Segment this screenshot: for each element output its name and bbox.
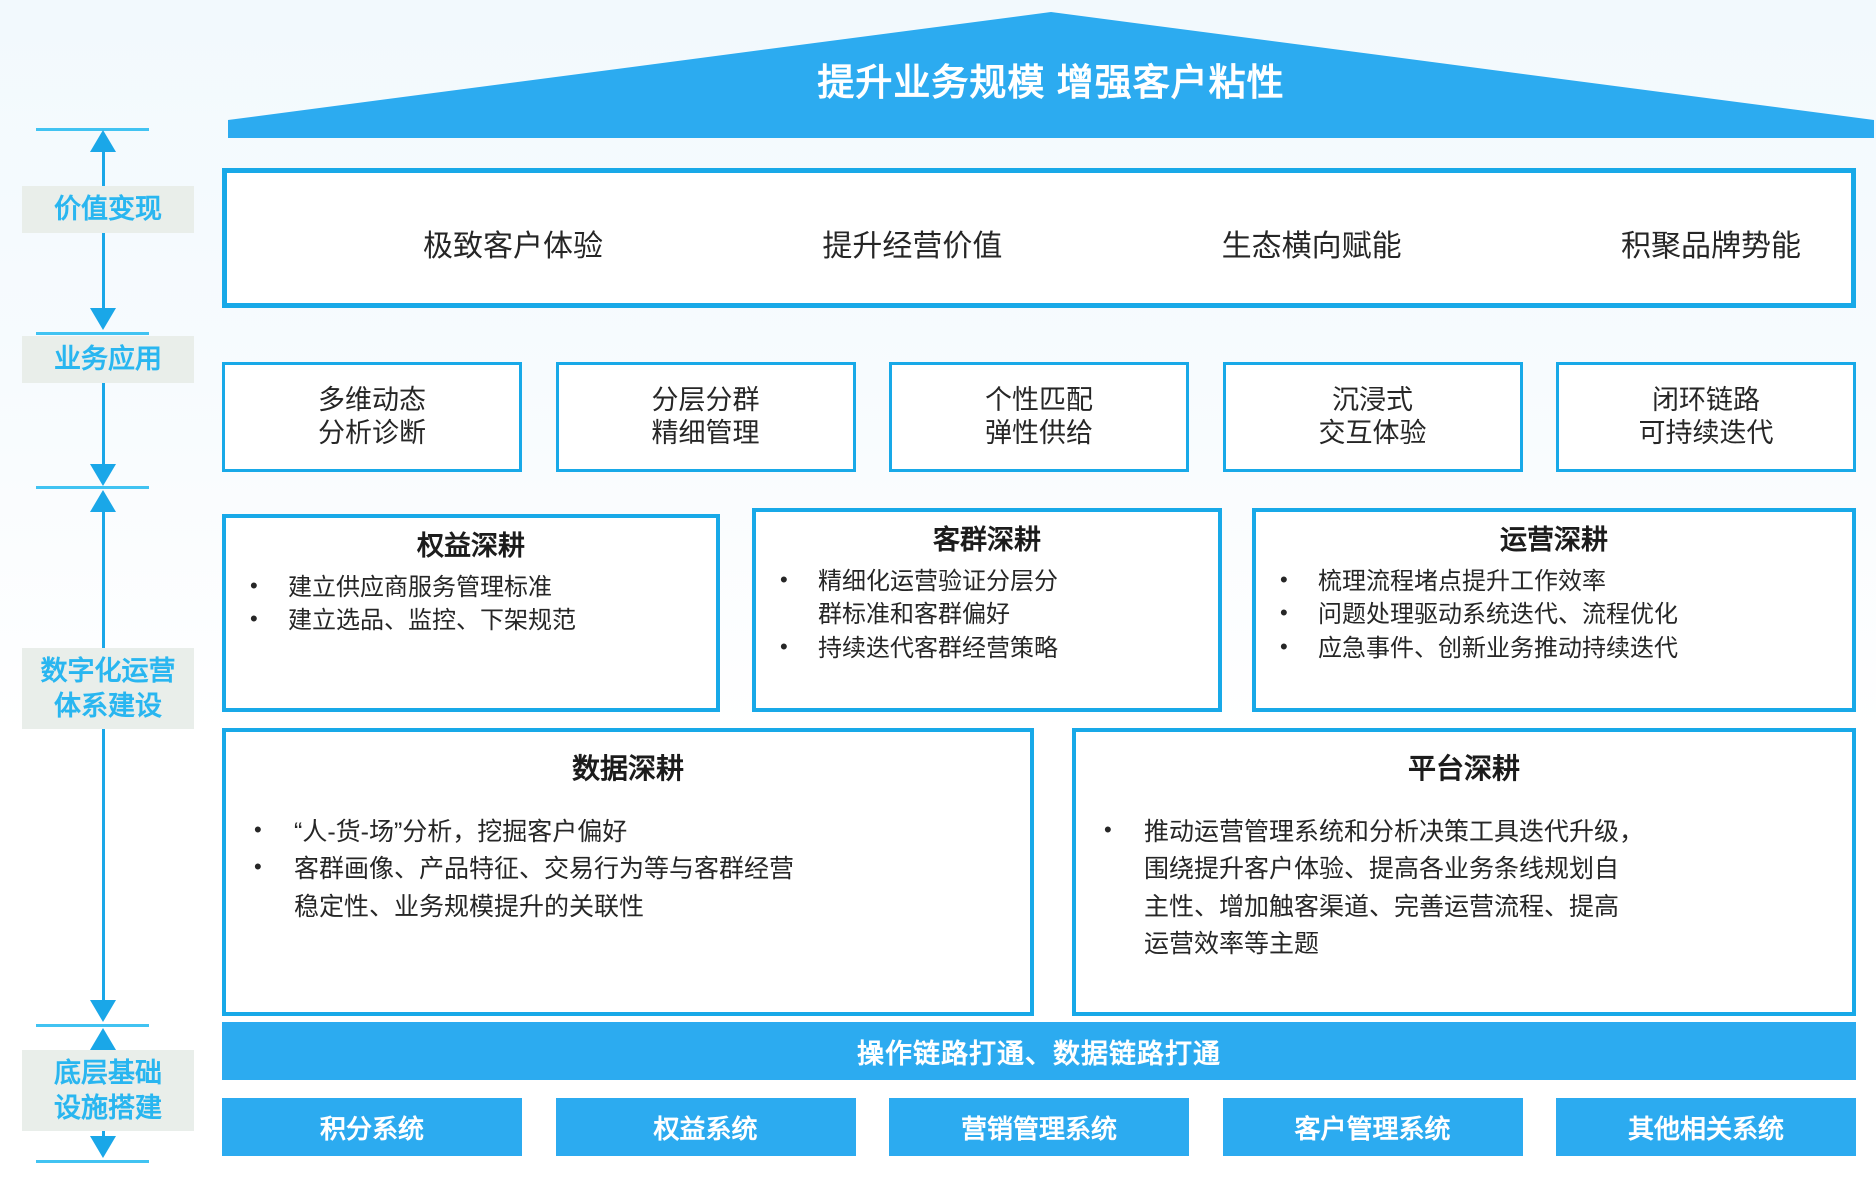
system-box-jifen[interactable]: 积分系统: [222, 1098, 522, 1156]
digital-box-shuju-title: 数据深耕: [226, 754, 1030, 785]
rail-label-infra: 底层基础 设施搭建: [22, 1050, 194, 1131]
value-item-2: 生态横向赋能: [1222, 221, 1402, 265]
rail-label-digital-line1: 数字化运营: [22, 654, 194, 689]
list-item: 精细化运营验证分层分: [756, 566, 1218, 598]
system-box-kehu[interactable]: 客户管理系统: [1223, 1098, 1523, 1156]
rail-arrow-down-3: [90, 1000, 116, 1022]
list-item: 推动运营管理系统和分析决策工具迭代升级，: [1076, 815, 1852, 851]
diagram-stage: 提升业务规模 增强客户粘性 价值变现 业务应用 数字化运营 体系建设: [0, 0, 1876, 1186]
rail-divider-3: [36, 486, 149, 489]
digital-box-shuju[interactable]: 数据深耕 “人-货-场”分析，挖掘客户偏好 客群画像、产品特征、交易行为等与客群…: [222, 728, 1034, 1016]
system-box-qita[interactable]: 其他相关系统: [1556, 1098, 1856, 1156]
list-item-continuation: 主性、增加触客渠道、完善运营流程、提高: [1076, 890, 1852, 926]
list-item: 应急事件、创新业务推动持续迭代: [1256, 633, 1852, 665]
list-item: 持续迭代客群经营策略: [756, 633, 1218, 665]
application-box-2-line1: 个性匹配: [985, 384, 1093, 417]
list-item: 问题处理驱动系统迭代、流程优化: [1256, 599, 1852, 631]
digital-box-shuju-bullets: “人-货-场”分析，挖掘客户偏好 客群画像、产品特征、交易行为等与客群经营 稳定…: [226, 815, 1030, 926]
rail-divider-5: [36, 1160, 149, 1163]
infra-systems-row: 积分系统 权益系统 营销管理系统 客户管理系统 其他相关系统: [222, 1098, 1856, 1156]
value-item-3: 积聚品牌势能: [1621, 221, 1801, 265]
rail-label-value: 价值变现: [22, 186, 194, 233]
rail-arrow-up-4: [90, 1028, 116, 1050]
application-box-1-line1: 分层分群: [652, 384, 760, 417]
application-box-4-line1: 闭环链路: [1652, 384, 1760, 417]
digital-box-kequn-bullets: 精细化运营验证分层分 群标准和客群偏好 持续迭代客群经营策略: [756, 566, 1218, 665]
rail-label-application: 业务应用: [22, 336, 194, 383]
digital-box-quanyi-title: 权益深耕: [226, 532, 716, 562]
list-item: 建立供应商服务管理标准: [226, 572, 716, 604]
infra-band: 操作链路打通、数据链路打通: [222, 1022, 1856, 1080]
rail-label-infra-line1: 底层基础: [22, 1056, 194, 1091]
application-box-3[interactable]: 沉浸式 交互体验: [1223, 362, 1523, 472]
application-box-2[interactable]: 个性匹配 弹性供给: [889, 362, 1189, 472]
rail-label-digital: 数字化运营 体系建设: [22, 648, 194, 729]
application-box-0[interactable]: 多维动态 分析诊断: [222, 362, 522, 472]
rail-arrow-down-4: [90, 1136, 116, 1158]
application-box-1[interactable]: 分层分群 精细管理: [556, 362, 856, 472]
application-box-3-line2: 交互体验: [1319, 417, 1427, 450]
roof-banner: 提升业务规模 增强客户粘性: [228, 8, 1874, 138]
application-box-2-line2: 弹性供给: [985, 417, 1093, 450]
rail-label-digital-line2: 体系建设: [22, 689, 194, 724]
rail-arrow-up-1: [90, 130, 116, 152]
value-layer-items: 极致客户体验 提升经营价值 生态横向赋能 积聚品牌势能: [423, 173, 1861, 313]
digital-box-yunying-bullets: 梳理流程堵点提升工作效率 问题处理驱动系统迭代、流程优化 应急事件、创新业务推动…: [1256, 566, 1852, 665]
application-box-3-line1: 沉浸式: [1332, 384, 1413, 417]
digital-box-yunying-title: 运营深耕: [1256, 526, 1852, 556]
list-item-continuation: 群标准和客群偏好: [756, 599, 1218, 631]
system-box-yingxiao[interactable]: 营销管理系统: [889, 1098, 1189, 1156]
list-item: “人-货-场”分析，挖掘客户偏好: [226, 815, 1030, 851]
rail-divider-4: [36, 1024, 149, 1027]
rail-divider-2: [36, 332, 149, 335]
list-item: 客群画像、产品特征、交易行为等与客群经营: [226, 852, 1030, 888]
value-item-0: 极致客户体验: [423, 221, 603, 265]
left-rail: 价值变现 业务应用 数字化运营 体系建设 底层基础 设施搭建: [18, 128, 168, 1168]
rail-stem-3: [102, 510, 105, 1002]
digital-box-pingtai[interactable]: 平台深耕 推动运营管理系统和分析决策工具迭代升级， 围绕提升客户体验、提高各业务…: [1072, 728, 1856, 1016]
list-item-continuation: 稳定性、业务规模提升的关联性: [226, 890, 1030, 926]
application-box-0-line2: 分析诊断: [318, 417, 426, 450]
application-layer-row: 多维动态 分析诊断 分层分群 精细管理 个性匹配 弹性供给 沉浸式 交互体验 闭…: [222, 362, 1856, 472]
digital-box-kequn-title: 客群深耕: [756, 526, 1218, 556]
rail-label-value-text: 价值变现: [22, 192, 194, 227]
value-item-1: 提升经营价值: [822, 221, 1002, 265]
digital-box-yunying[interactable]: 运营深耕 梳理流程堵点提升工作效率 问题处理驱动系统迭代、流程优化 应急事件、创…: [1252, 508, 1856, 712]
system-box-quanyi[interactable]: 权益系统: [556, 1098, 856, 1156]
digital-box-pingtai-bullets: 推动运营管理系统和分析决策工具迭代升级， 围绕提升客户体验、提高各业务条线规划自…: [1076, 815, 1852, 963]
application-box-0-line1: 多维动态: [318, 384, 426, 417]
digital-layer-row2: 数据深耕 “人-货-场”分析，挖掘客户偏好 客群画像、产品特征、交易行为等与客群…: [222, 728, 1856, 1018]
rail-label-application-text: 业务应用: [22, 342, 194, 377]
digital-box-pingtai-title: 平台深耕: [1076, 754, 1852, 785]
list-item-continuation: 围绕提升客户体验、提高各业务条线规划自: [1076, 852, 1852, 888]
rail-arrow-up-3: [90, 490, 116, 512]
list-item: 建立选品、监控、下架规范: [226, 605, 716, 637]
digital-box-quanyi[interactable]: 权益深耕 建立供应商服务管理标准 建立选品、监控、下架规范: [222, 514, 720, 712]
application-box-1-line2: 精细管理: [652, 417, 760, 450]
value-layer-box: 极致客户体验 提升经营价值 生态横向赋能 积聚品牌势能: [222, 168, 1856, 308]
digital-layer-row1: 权益深耕 建立供应商服务管理标准 建立选品、监控、下架规范 客群深耕 精细化运营…: [222, 514, 1856, 712]
application-box-4-line2: 可持续迭代: [1639, 417, 1774, 450]
rail-arrow-down-1: [90, 308, 116, 330]
rail-label-infra-line2: 设施搭建: [22, 1091, 194, 1126]
roof-title: 提升业务规模 增强客户粘性: [228, 64, 1874, 101]
digital-box-quanyi-bullets: 建立供应商服务管理标准 建立选品、监控、下架规范: [226, 572, 716, 637]
rail-arrow-down-2: [90, 464, 116, 486]
digital-box-kequn[interactable]: 客群深耕 精细化运营验证分层分 群标准和客群偏好 持续迭代客群经营策略: [752, 508, 1222, 712]
list-item: 梳理流程堵点提升工作效率: [1256, 566, 1852, 598]
application-box-4[interactable]: 闭环链路 可持续迭代: [1556, 362, 1856, 472]
list-item-continuation: 运营效率等主题: [1076, 927, 1852, 963]
